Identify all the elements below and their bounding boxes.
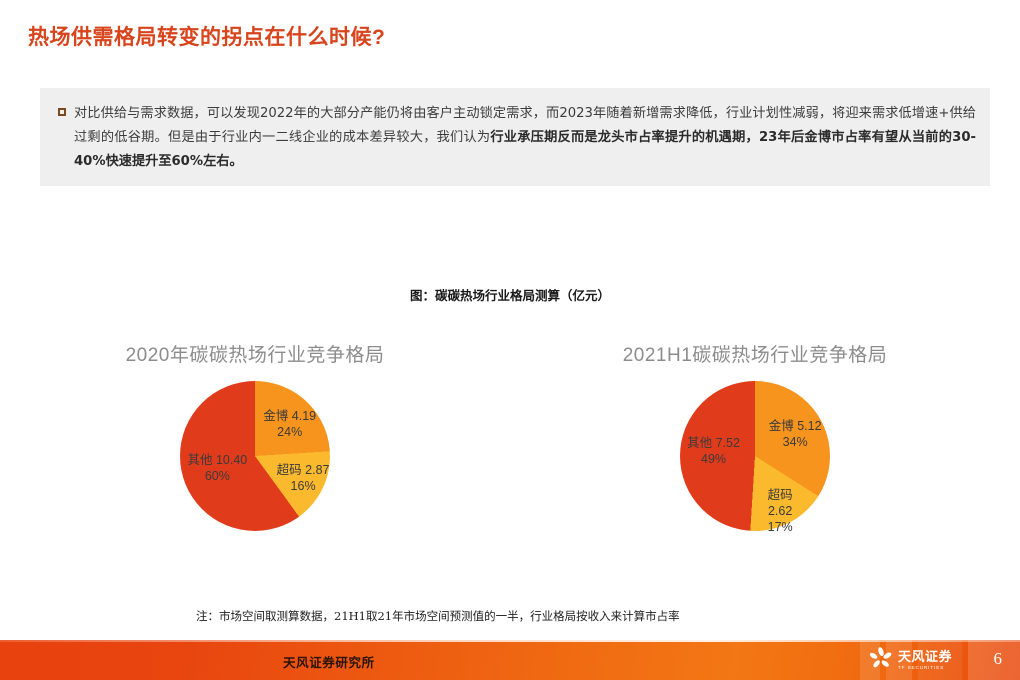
- summary-text: 对比供给与需求数据，可以发现2022年的大部分产能仍将由客户主动锁定需求，而20…: [74, 102, 976, 174]
- company-logo: 天风证券 TF SECURITIES: [868, 646, 978, 676]
- logo-text-en: TF SECURITIES: [898, 666, 952, 671]
- page-title: 热场供需格局转变的拐点在什么时候?: [28, 21, 385, 51]
- charts-container: 2020年碳碳热场行业竞争格局 金博 4.19 24% 超码 2.87 16% …: [0, 340, 1020, 590]
- footer-institute-label: 天风证券研究所: [283, 652, 375, 671]
- pie-chart-2020: [180, 381, 330, 531]
- chart-title-2021h1: 2021H1碳碳热场行业竞争格局: [520, 340, 990, 367]
- chart-2021h1: 2021H1碳碳热场行业竞争格局 金博 5.12 34% 超码 2.62 17%…: [520, 340, 990, 531]
- pie-chart-2021h1: [680, 381, 830, 531]
- figure-footnote: 注：市场空间取测算数据，21H1取21年市场空间预测值的一半，行业格局按收入来计…: [196, 608, 680, 624]
- pinwheel-logo-icon: [868, 646, 894, 677]
- summary-callout: 对比供给与需求数据，可以发现2022年的大部分产能仍将由客户主动锁定需求，而20…: [40, 88, 990, 186]
- square-bullet-icon: [58, 108, 66, 116]
- page-number: 6: [994, 649, 1003, 669]
- footer-bar: 天风证券研究所 天风证券 TF SECURITIES 6: [0, 640, 1020, 680]
- chart-2020: 2020年碳碳热场行业竞争格局 金博 4.19 24% 超码 2.87 16% …: [20, 340, 490, 531]
- chart-title-2020: 2020年碳碳热场行业竞争格局: [20, 340, 490, 367]
- logo-text-cn: 天风证券: [898, 651, 952, 664]
- figure-caption: 图：碳碳热场行业格局测算（亿元）: [0, 285, 1020, 304]
